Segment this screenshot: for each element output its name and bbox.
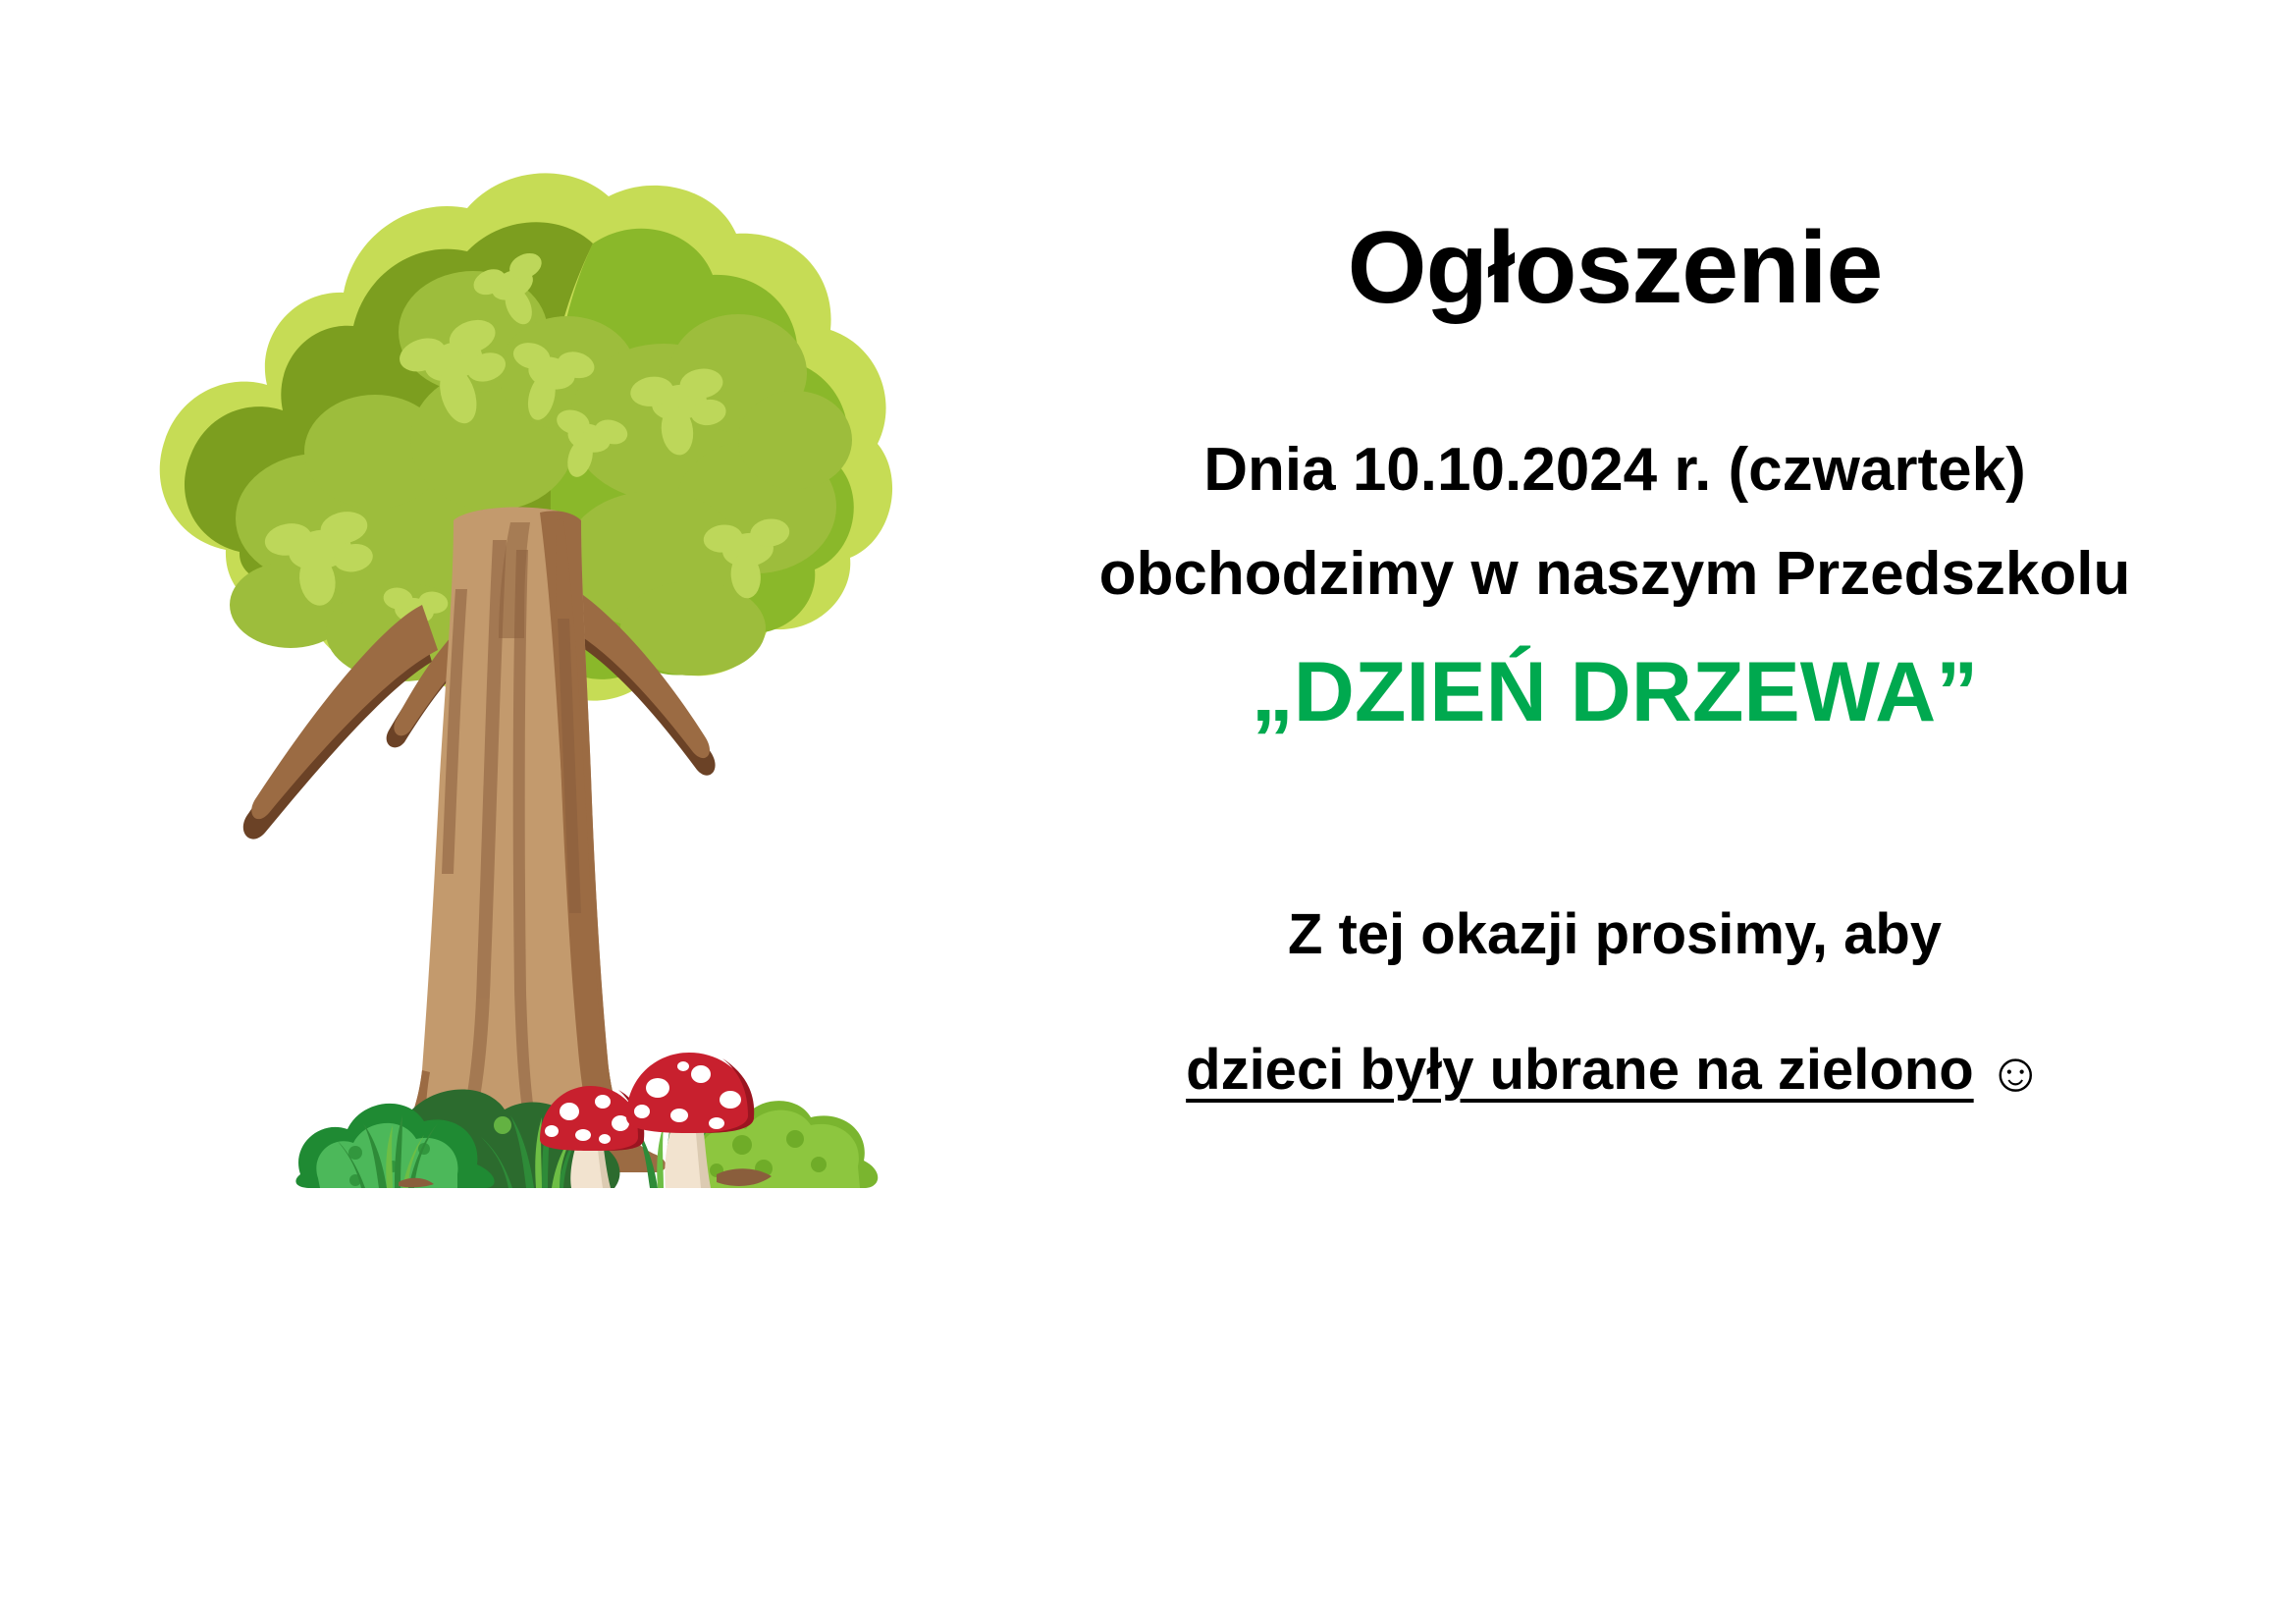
page-title: Ogłoszenie — [962, 187, 2268, 324]
notice-celebration-line: obchodzimy w naszym Przedszkolu — [962, 544, 2268, 605]
poster-canvas: Ogłoszenie Dnia 10.10.2024 r. (czwartek)… — [0, 0, 2296, 1624]
notice-dress-code-line: dzieci były ubrane na zielono☺ — [962, 1042, 2268, 1100]
event-name-heading: „DZIEŃ DRZEWA” — [962, 648, 2268, 736]
notice-date-line: Dnia 10.10.2024 r. (czwartek) — [962, 440, 2268, 501]
tree-svg — [108, 128, 952, 1267]
cartoon-tree-illustration — [108, 128, 952, 1267]
notice-request-line: Z tej okazji prosimy, aby — [962, 906, 2268, 963]
dress-code-text: dzieci były ubrane na zielono — [1186, 1038, 1974, 1102]
notice-text-column: Ogłoszenie Dnia 10.10.2024 r. (czwartek)… — [962, 187, 2268, 1100]
notice-body: Dnia 10.10.2024 r. (czwartek) obchodzimy… — [962, 440, 2268, 736]
notice-request: Z tej okazji prosimy, aby dzieci były ub… — [962, 906, 2268, 1100]
smiley-face-icon: ☺ — [1974, 1041, 2044, 1103]
